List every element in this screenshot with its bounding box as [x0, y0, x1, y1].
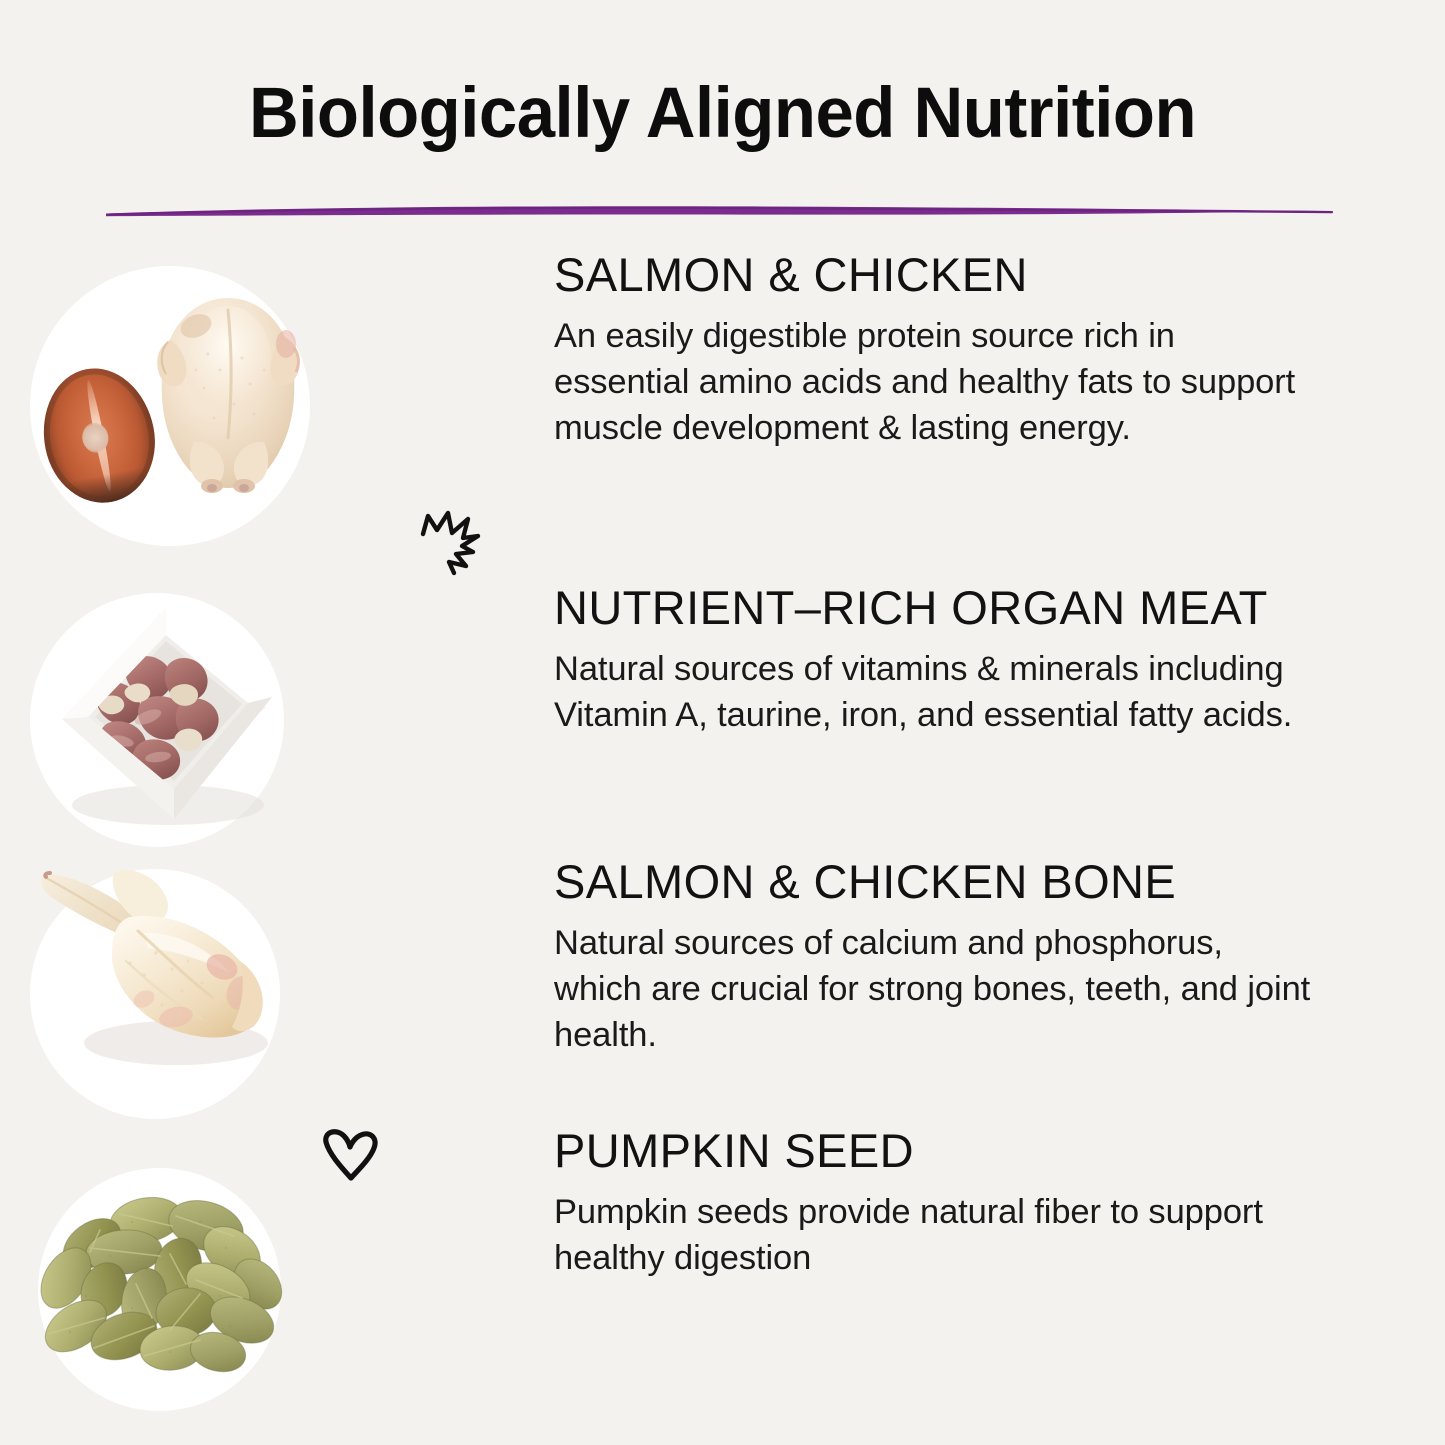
item-image-pumpkin-seed — [0, 1126, 530, 1386]
item-description: Natural sources of vitamins & minerals i… — [554, 647, 1314, 739]
item-copy-organ-meat: NUTRIENT–RICH ORGAN MEAT Natural sources… — [554, 583, 1314, 739]
item-image-salmon-chicken — [0, 250, 530, 550]
nutrition-item-organ-meat: NUTRIENT–RICH ORGAN MEAT Natural sources… — [0, 583, 1445, 833]
item-title: NUTRIENT–RICH ORGAN MEAT — [554, 583, 1314, 632]
item-title: PUMPKIN SEED — [554, 1126, 1314, 1175]
item-copy-pumpkin-seed: PUMPKIN SEED Pumpkin seeds provide natur… — [554, 1126, 1314, 1282]
item-description: Natural sources of calcium and phosphoru… — [554, 921, 1314, 1059]
page-header: Biologically Aligned Nutrition — [0, 0, 1445, 240]
item-title: SALMON & CHICKEN BONE — [554, 857, 1314, 906]
page-title: Biologically Aligned Nutrition — [22, 78, 1424, 149]
item-image-chicken-wing — [0, 857, 530, 1112]
item-image-organ-meat — [0, 583, 530, 833]
item-description: Pumpkin seeds provide natural fiber to s… — [554, 1190, 1314, 1282]
nutrition-item-salmon-chicken: SALMON & CHICKEN An easily digestible pr… — [0, 250, 1445, 550]
item-copy-salmon-chicken: SALMON & CHICKEN An easily digestible pr… — [554, 250, 1314, 452]
chicken-wing-image — [26, 857, 294, 1087]
organ-meat-bowl-image — [40, 591, 290, 841]
item-title: SALMON & CHICKEN — [554, 250, 1314, 299]
item-description: An easily digestible protein source rich… — [554, 314, 1314, 452]
title-underline-stroke — [104, 204, 1337, 217]
pumpkin-seeds-image — [20, 1156, 300, 1386]
whole-chicken-image — [146, 292, 310, 500]
nutrition-item-salmon-chicken-bone: SALMON & CHICKEN BONE Natural sources of… — [0, 857, 1445, 1112]
item-copy-chicken-bone: SALMON & CHICKEN BONE Natural sources of… — [554, 857, 1314, 1059]
spark-doodle-icon — [418, 508, 482, 574]
heart-doodle-icon — [318, 1126, 380, 1184]
nutrition-item-pumpkin-seed: PUMPKIN SEED Pumpkin seeds provide natur… — [0, 1126, 1445, 1386]
